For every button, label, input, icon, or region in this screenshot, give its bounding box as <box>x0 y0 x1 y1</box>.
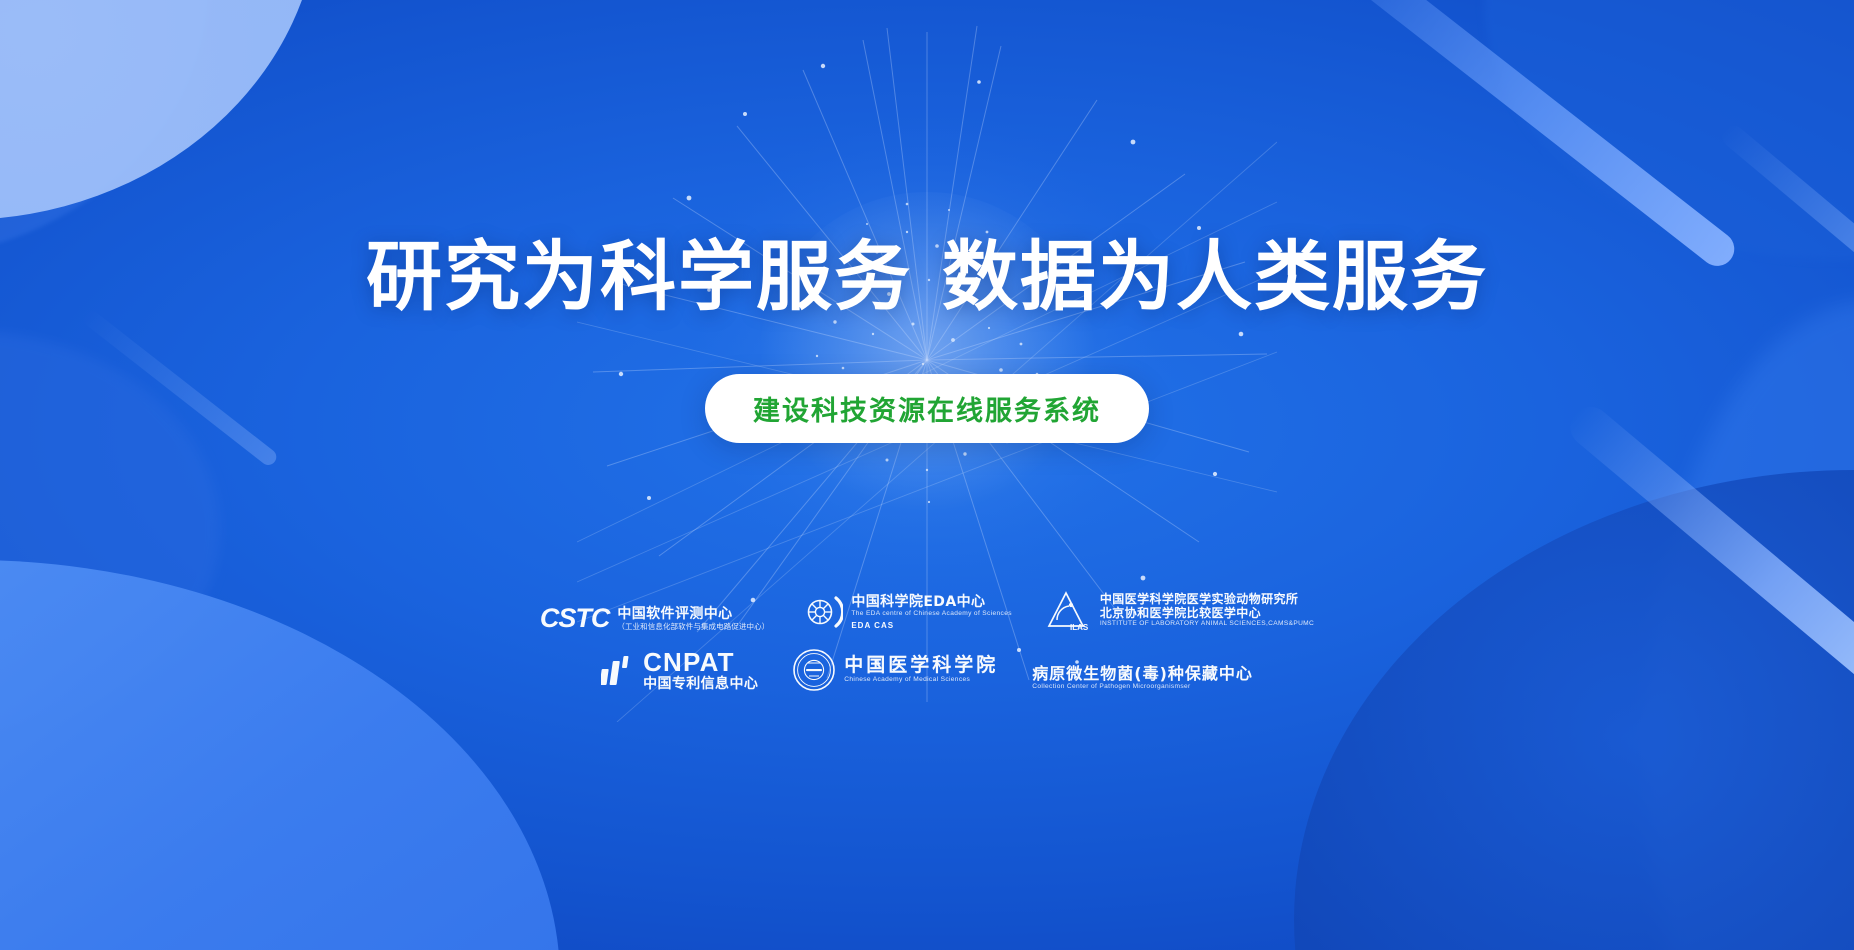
page-title-right: 数据为人类服务 <box>942 232 1488 321</box>
ilas-name-en: INSTITUTE OF LABORATORY ANIMAL SCIENCES,… <box>1100 620 1314 629</box>
eda-cas-name-en: The EDA centre of Chinese Academy of Sci… <box>851 610 1012 619</box>
cstc-wordmark-text: CSTC <box>540 605 610 632</box>
eda-cas-name-cn: 中国科学院EDA中心 <box>851 594 1012 610</box>
page-title: 研究为科学服务数据为人类服务 <box>366 236 1488 318</box>
partner-cnpat[interactable]: CNPAT 中国专利信息中心 <box>601 649 758 692</box>
page-title-left: 研究为科学服务 <box>366 232 912 321</box>
eda-cas-emblem-icon <box>803 592 843 632</box>
pathogen-collection-text: 病原微生物菌(毒)种保藏中心 Collection Center of Path… <box>1032 665 1253 692</box>
cstc-text: 中国软件评测中心 （工业和信息化部软件与集成电路促进中心） <box>617 606 769 632</box>
partner-ilas[interactable]: ILAS 中国医学科学院医学实验动物研究所 北京协和医学院比较医学中心 INST… <box>1046 590 1314 632</box>
cnpat-text: CNPAT 中国专利信息中心 <box>643 649 758 692</box>
cams-seal-emblem-icon <box>792 648 836 692</box>
partner-logo-row-1: CSTC 中国软件评测中心 （工业和信息化部软件与集成电路促进中心） <box>537 590 1317 632</box>
partner-cstc[interactable]: CSTC 中国软件评测中心 （工业和信息化部软件与集成电路促进中心） <box>540 605 770 632</box>
hero-content: 研究为科学服务数据为人类服务 建设科技资源在线服务系统 <box>0 0 1854 950</box>
cams-name-en: Chinese Academy of Medical Sciences <box>844 676 998 685</box>
ilas-name-cn-line2: 北京协和医学院比较医学中心 <box>1100 607 1314 621</box>
ilas-text: 中国医学科学院医学实验动物研究所 北京协和医学院比较医学中心 INSTITUTE… <box>1100 593 1314 629</box>
cstc-wordmark-icon: CSTC <box>540 605 610 632</box>
cstc-subtitle-cn: （工业和信息化部软件与集成电路促进中心） <box>617 622 769 632</box>
pathogen-collection-name-cn: 病原微生物菌(毒)种保藏中心 <box>1032 665 1253 683</box>
eda-cas-text: 中国科学院EDA中心 The EDA centre of Chinese Aca… <box>851 594 1012 630</box>
partner-cams[interactable]: 中国医学科学院 Chinese Academy of Medical Scien… <box>792 648 998 692</box>
cnpat-name-cn: 中国专利信息中心 <box>643 676 758 692</box>
svg-text:ILAS: ILAS <box>1070 623 1089 632</box>
cams-text: 中国医学科学院 Chinese Academy of Medical Scien… <box>844 655 998 686</box>
cams-name-cn: 中国医学科学院 <box>844 655 998 677</box>
partner-pathogen-collection[interactable]: 病原微生物菌(毒)种保藏中心 Collection Center of Path… <box>1032 665 1253 692</box>
cnpat-wordmark-text: CNPAT <box>643 649 758 676</box>
cnpat-bars-icon <box>601 653 635 687</box>
partner-logo-row-2: CNPAT 中国专利信息中心 中国医学科学院 <box>537 648 1317 692</box>
ilas-name-cn-line1: 中国医学科学院医学实验动物研究所 <box>1100 593 1314 607</box>
cta-button[interactable]: 建设科技资源在线服务系统 <box>705 374 1149 443</box>
eda-cas-tag: EDA CAS <box>851 621 1012 630</box>
cstc-name-cn: 中国软件评测中心 <box>617 606 769 622</box>
hero-banner: 研究为科学服务数据为人类服务 建设科技资源在线服务系统 CSTC 中国软件评测中… <box>0 0 1854 950</box>
pathogen-collection-name-en: Collection Center of Pathogen Microorgan… <box>1032 683 1253 692</box>
partner-logos: CSTC 中国软件评测中心 （工业和信息化部软件与集成电路促进中心） <box>537 590 1317 692</box>
partner-eda-cas[interactable]: 中国科学院EDA中心 The EDA centre of Chinese Aca… <box>803 592 1012 632</box>
ilas-triangle-emblem-icon: ILAS <box>1046 590 1092 632</box>
